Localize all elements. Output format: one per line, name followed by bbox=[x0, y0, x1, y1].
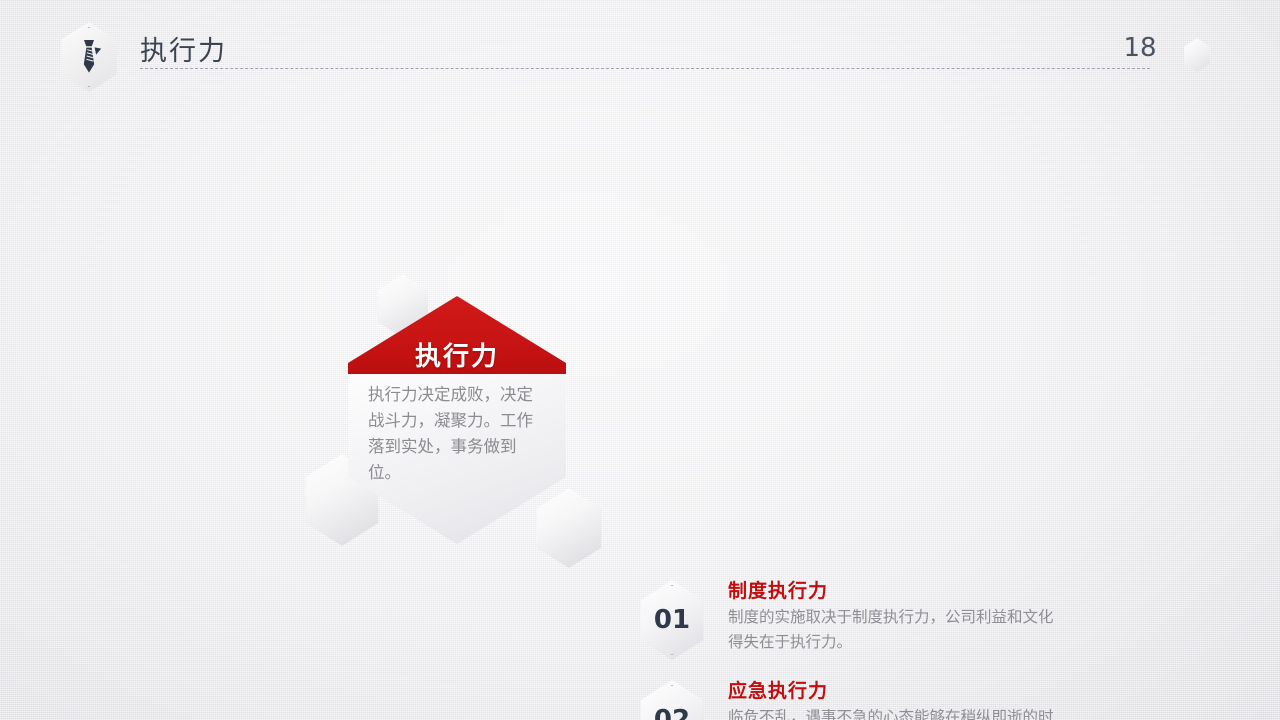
header-divider bbox=[140, 68, 1150, 69]
badge-decoration-hexagon-right bbox=[532, 488, 606, 568]
feature-list: 01 制度执行力 制度的实施取决于制度执行力，公司利益和文化得失在于执行力。 0… bbox=[636, 576, 1196, 720]
item-number-hexagon-02: 02 bbox=[636, 680, 708, 720]
item-title: 应急执行力 bbox=[728, 676, 828, 703]
page-title: 执行力 bbox=[140, 29, 227, 68]
badge-body-text: 执行力决定成败，决定战斗力，凝聚力。工作落到实处，事务做到位。 bbox=[368, 382, 546, 486]
badge-label: 执行力 bbox=[348, 336, 566, 373]
necktie-icon bbox=[74, 39, 104, 75]
item-description: 制度的实施取决于制度执行力，公司利益和文化得失在于执行力。 bbox=[728, 605, 1068, 655]
item-title: 制度执行力 bbox=[728, 576, 828, 603]
item-number-hexagon-01: 01 bbox=[636, 580, 708, 660]
badge-hexagon: 执行力 执行力决定成败，决定战斗力，凝聚力。工作落到实处，事务做到位。 bbox=[348, 296, 566, 544]
list-item[interactable]: 01 制度执行力 制度的实施取决于制度执行力，公司利益和文化得失在于执行力。 bbox=[636, 576, 1196, 676]
slide-canvas: 执行力 18 执行力 执行力决定成败，决定战斗力，凝聚力。工作落到实处，事务做到… bbox=[0, 0, 1280, 720]
item-number: 01 bbox=[654, 605, 690, 635]
slide-header: 执行力 18 bbox=[0, 0, 1280, 100]
header-decoration-hexagon bbox=[1182, 38, 1212, 72]
header-logo-hexagon bbox=[57, 22, 121, 92]
list-item[interactable]: 02 应急执行力 临危不乱，遇事不急的心态能够在稍纵即逝的时机取得更大的成果。 bbox=[636, 676, 1196, 720]
item-number: 02 bbox=[654, 705, 690, 720]
central-badge: 执行力 执行力决定成败，决定战斗力，凝聚力。工作落到实处，事务做到位。 bbox=[296, 270, 626, 570]
page-number: 18 bbox=[1120, 33, 1160, 63]
item-description: 临危不乱，遇事不急的心态能够在稍纵即逝的时机取得更大的成果。 bbox=[728, 705, 1068, 720]
